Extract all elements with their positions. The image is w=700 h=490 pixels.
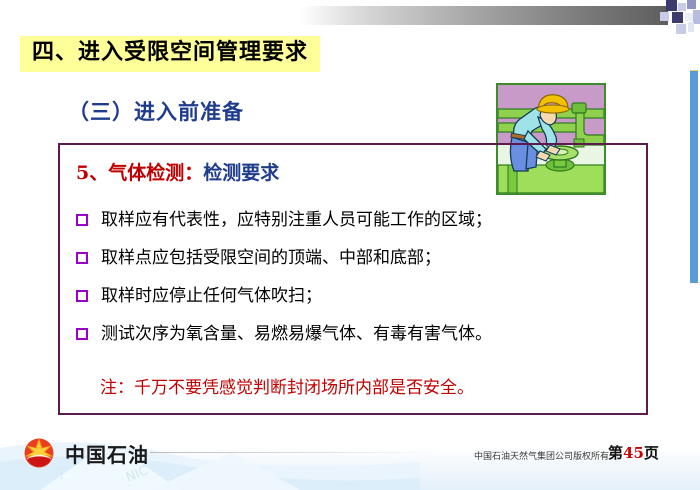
content-heading-number: 5、气体检测： [76, 162, 203, 184]
warning-note: 注：千万不要凭感觉判断封闭场所内部是否安全。 [100, 373, 474, 398]
brand-name: 中国石油 [65, 439, 149, 468]
square-bullet-icon [76, 252, 88, 264]
page-number: 第45页 [608, 442, 659, 463]
list-item: 取样应有代表性，应特别注重人员可能工作的区域； [76, 207, 640, 233]
brand-logo: 中国石油 [22, 436, 149, 470]
slide-canvas: 四、进入受限空间管理要求 （三）进入前准备 [0, 0, 700, 490]
page-number-suffix: 页 [644, 444, 659, 462]
section-subtitle: （三）进入前准备 [68, 96, 244, 126]
content-heading-title: 检测要求 [203, 162, 279, 184]
petrochina-logo-icon [22, 436, 56, 470]
list-item-label: 取样时应停止任何气体吹扫； [101, 283, 322, 309]
list-item-label: 取样点应包括受限空间的顶端、中部和底部； [101, 245, 441, 271]
page-number-value: 45 [623, 444, 644, 462]
top-gradient-bar [300, 6, 668, 25]
slide-footer: ? NIC 中国石油 中国石油天然气集团公司版权所有 第45页 [0, 428, 700, 490]
content-heading: 5、气体检测：检测要求 [76, 158, 279, 185]
list-item-label: 测试次序为氧含量、易燃易爆气体、有毒有害气体。 [101, 321, 492, 347]
page-title-text: 四、进入受限空间管理要求 [32, 39, 308, 67]
square-bullet-icon [76, 290, 88, 302]
content-box: 5、气体检测：检测要求 取样应有代表性，应特别注重人员可能工作的区域； 取样点应… [58, 143, 648, 415]
list-item: 取样时应停止任何气体吹扫； [76, 283, 640, 309]
footer-divider [150, 452, 440, 453]
right-accent-bar [690, 70, 698, 283]
list-item: 测试次序为氧含量、易燃易爆气体、有毒有害气体。 [76, 321, 640, 347]
square-bullet-icon [76, 328, 88, 340]
footer-copyright: 中国石油天然气集团公司版权所有 [474, 449, 609, 462]
square-bullet-icon [76, 214, 88, 226]
corner-squares-decoration [652, 0, 700, 42]
list-item-label: 取样应有代表性，应特别注重人员可能工作的区域； [101, 207, 492, 233]
page-number-prefix: 第 [608, 444, 623, 462]
page-title: 四、进入受限空间管理要求 [20, 36, 320, 72]
list-item: 取样点应包括受限空间的顶端、中部和底部； [76, 245, 640, 271]
bullet-list: 取样应有代表性，应特别注重人员可能工作的区域； 取样点应包括受限空间的顶端、中部… [76, 207, 640, 359]
